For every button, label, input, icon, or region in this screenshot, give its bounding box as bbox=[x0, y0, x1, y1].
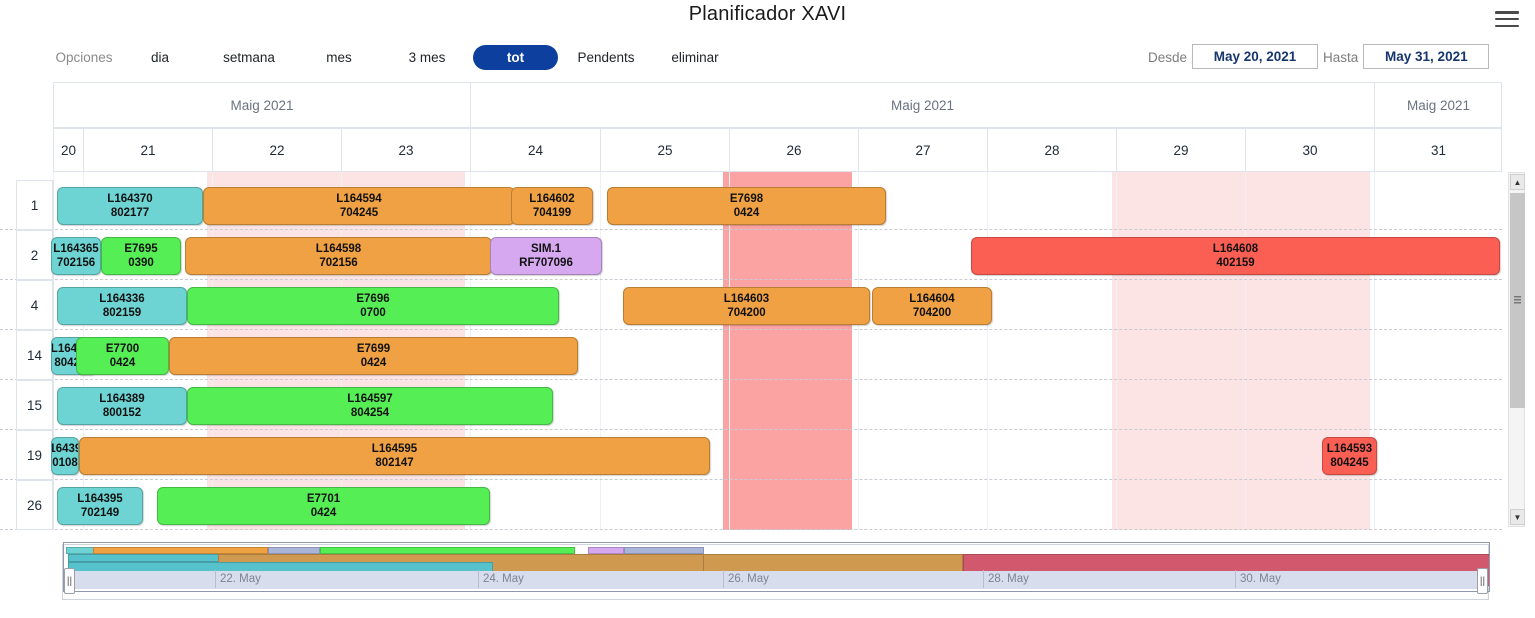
gantt-bar-id: L164603 bbox=[724, 292, 769, 306]
gantt-bar[interactable]: E77000424 bbox=[76, 337, 169, 375]
gantt-bar-id: L164370 bbox=[107, 192, 152, 206]
gantt-bar[interactable]: L164370802177 bbox=[57, 187, 203, 225]
month-header-cell: Maig 2021 bbox=[470, 82, 1374, 128]
gantt-row: 4L164336802159E76960700L164603704200L164… bbox=[0, 280, 1502, 330]
gantt-bar[interactable]: L164336802159 bbox=[57, 287, 187, 325]
row-label-separator bbox=[53, 280, 54, 330]
gantt-row: 19L164393801081L164595802147L16459380424… bbox=[0, 430, 1502, 480]
date-range-controls: DesdeMay 20, 2021HastaMay 31, 2021 bbox=[1148, 43, 1494, 72]
gantt-calendar: Maig 2021Maig 2021Maig 2021 202122232425… bbox=[0, 82, 1535, 530]
gantt-bar[interactable]: E77010424 bbox=[157, 487, 490, 525]
vertical-scrollbar[interactable]: ▲ ▼ bbox=[1508, 172, 1525, 527]
gantt-bar[interactable]: L164603704200 bbox=[623, 287, 870, 325]
gantt-bar[interactable]: E76950390 bbox=[101, 237, 181, 275]
header-right-border bbox=[1501, 82, 1502, 172]
gantt-bar-id: E7699 bbox=[357, 342, 390, 356]
hamburger-bar bbox=[1495, 25, 1519, 28]
gantt-bar-id: L164595 bbox=[372, 442, 417, 456]
gantt-row: 14L164381804217E77000424E76990424 bbox=[0, 330, 1502, 380]
scroll-down-button[interactable]: ▼ bbox=[1510, 509, 1525, 525]
date-to-label: Hasta bbox=[1323, 43, 1358, 72]
gantt-bar-id: E7698 bbox=[730, 192, 763, 206]
gantt-bar-id: L164336 bbox=[99, 292, 144, 306]
gantt-bar-id: E7695 bbox=[124, 242, 157, 256]
overview-handle-right[interactable]: || bbox=[1477, 568, 1488, 594]
day-header-cell[interactable]: 23 bbox=[341, 128, 470, 172]
row-label: 2 bbox=[16, 230, 53, 280]
day-header-cell[interactable]: 29 bbox=[1116, 128, 1245, 172]
gantt-bar[interactable]: SIM.1RF707096 bbox=[490, 237, 602, 275]
gantt-bar-id: L164594 bbox=[336, 192, 381, 206]
gantt-row: 2L164365702156E76950390L164598702156SIM.… bbox=[0, 230, 1502, 280]
page-title: Planificador XAVI bbox=[0, 3, 1535, 26]
gantt-bar-code: 0424 bbox=[361, 356, 387, 370]
gantt-bar-code: 402159 bbox=[1216, 256, 1254, 270]
gantt-bar-code: 804254 bbox=[351, 406, 389, 420]
row-label-separator bbox=[53, 180, 54, 230]
day-header-cell[interactable]: 30 bbox=[1245, 128, 1374, 172]
gantt-row: 1L164370802177L164594704245L164602704199… bbox=[0, 180, 1502, 230]
gantt-bar[interactable]: L164389800152 bbox=[57, 387, 187, 425]
gantt-bar-id: L164593 bbox=[1327, 442, 1372, 456]
gantt-bar[interactable]: L164395702149 bbox=[57, 487, 143, 525]
row-label: 1 bbox=[16, 180, 53, 230]
calendar-day-header: 202122232425262728293031 bbox=[0, 128, 1502, 172]
date-to-input[interactable]: May 31, 2021 bbox=[1363, 44, 1489, 69]
row-label: 19 bbox=[16, 430, 53, 480]
gantt-bar-code: 802177 bbox=[111, 206, 149, 220]
gantt-bar-id: E7696 bbox=[356, 292, 389, 306]
gantt-bar[interactable]: L164594704245 bbox=[203, 187, 515, 225]
gantt-bar[interactable]: L164608402159 bbox=[971, 237, 1500, 275]
gantt-bar-id: L164598 bbox=[316, 242, 361, 256]
gantt-bar-code: 0424 bbox=[734, 206, 760, 220]
row-label-separator bbox=[53, 380, 54, 430]
day-header-cell[interactable]: 27 bbox=[858, 128, 987, 172]
gantt-bar[interactable]: L164602704199 bbox=[511, 187, 593, 225]
overview-handle-left[interactable]: || bbox=[64, 568, 75, 594]
toolbar-item-dia[interactable]: dia bbox=[140, 43, 180, 72]
toolbar-item-3-mes[interactable]: 3 mes bbox=[398, 43, 456, 72]
gantt-bar-code: RF707096 bbox=[519, 256, 573, 270]
day-header-cell[interactable]: 31 bbox=[1374, 128, 1502, 172]
toolbar: Opcionesdiasetmanames3 mestotPendentseli… bbox=[0, 43, 1535, 73]
gantt-bar-code: 800152 bbox=[103, 406, 141, 420]
gantt-bar-code: 702156 bbox=[57, 256, 95, 270]
gantt-bar-code: 802147 bbox=[375, 456, 413, 470]
gantt-body: 1L164370802177L164594704245L164602704199… bbox=[0, 172, 1502, 530]
gantt-bar[interactable]: E76980424 bbox=[607, 187, 886, 225]
gantt-bar-code: 704245 bbox=[340, 206, 378, 220]
toolbar-item-tot[interactable]: tot bbox=[473, 45, 558, 70]
gantt-bar[interactable]: L164597804254 bbox=[187, 387, 553, 425]
row-label: 26 bbox=[16, 480, 53, 530]
day-header-cell[interactable]: 21 bbox=[83, 128, 212, 172]
gantt-bar-id: L164602 bbox=[529, 192, 574, 206]
scroll-up-button[interactable]: ▲ bbox=[1510, 174, 1525, 190]
hamburger-icon[interactable] bbox=[1495, 11, 1519, 29]
gantt-bar-id: SIM.1 bbox=[531, 242, 561, 256]
day-header-cell[interactable]: 20 bbox=[53, 128, 83, 172]
hamburger-bar bbox=[1495, 11, 1519, 14]
month-header-cell: Maig 2021 bbox=[1374, 82, 1502, 128]
gantt-bar[interactable]: L164593804245 bbox=[1322, 437, 1377, 475]
date-from-input[interactable]: May 20, 2021 bbox=[1192, 44, 1318, 69]
day-header-cell[interactable]: 24 bbox=[470, 128, 600, 172]
gantt-bar-id: L164597 bbox=[347, 392, 392, 406]
gantt-bar-code: 704199 bbox=[533, 206, 571, 220]
gantt-bar[interactable]: L164604704200 bbox=[872, 287, 992, 325]
row-label: 15 bbox=[16, 380, 53, 430]
toolbar-item-opciones[interactable]: Opciones bbox=[53, 43, 115, 72]
gantt-row: 15L164389800152L164597804254 bbox=[0, 380, 1502, 430]
gantt-bar-code: 704200 bbox=[913, 306, 951, 320]
gantt-bar[interactable]: L164598702156 bbox=[185, 237, 492, 275]
gantt-bar[interactable]: L164365702156 bbox=[51, 237, 101, 275]
gantt-bar-code: 704200 bbox=[727, 306, 765, 320]
gantt-bar[interactable]: L164393801081 bbox=[51, 437, 79, 475]
gantt-bar[interactable]: L164595802147 bbox=[79, 437, 710, 475]
day-header-cell[interactable]: 28 bbox=[987, 128, 1116, 172]
calendar-month-header: Maig 2021Maig 2021Maig 2021 bbox=[0, 82, 1502, 128]
toolbar-item-eliminar[interactable]: eliminar bbox=[660, 43, 730, 72]
gantt-bar-id: L164395 bbox=[77, 492, 122, 506]
row-label: 14 bbox=[16, 330, 53, 380]
gantt-bar[interactable]: E76990424 bbox=[169, 337, 578, 375]
day-header-cell[interactable]: 22 bbox=[212, 128, 341, 172]
gantt-bar-code: 0424 bbox=[311, 506, 337, 520]
scrollbar-thumb[interactable] bbox=[1510, 193, 1525, 408]
date-from-label: Desde bbox=[1148, 43, 1187, 72]
gantt-bar-code: 801081 bbox=[51, 456, 79, 470]
timeline-overview[interactable]: 22. May24. May26. May28. May30. May || |… bbox=[62, 544, 1489, 600]
gantt-bar-id: L164608 bbox=[1213, 242, 1258, 256]
gantt-bar-code: 702156 bbox=[319, 256, 357, 270]
gantt-bar-id: E7701 bbox=[307, 492, 340, 506]
gantt-bar-id: L164604 bbox=[909, 292, 954, 306]
row-label-separator bbox=[53, 480, 54, 530]
toolbar-item-pendents[interactable]: Pendents bbox=[568, 43, 644, 72]
gantt-bar-code: 0424 bbox=[110, 356, 136, 370]
month-header-cell: Maig 2021 bbox=[53, 82, 470, 128]
row-label: 4 bbox=[16, 280, 53, 330]
gantt-bar-id: L164389 bbox=[99, 392, 144, 406]
overview-window[interactable] bbox=[63, 542, 1490, 592]
gantt-bar-code: 802159 bbox=[103, 306, 141, 320]
gantt-bar-code: 702149 bbox=[81, 506, 119, 520]
toolbar-item-setmana[interactable]: setmana bbox=[212, 43, 286, 72]
gantt-bar-id: L164365 bbox=[53, 242, 98, 256]
day-header-cell[interactable]: 25 bbox=[600, 128, 729, 172]
hamburger-bar bbox=[1495, 18, 1519, 21]
gantt-bar-code: 0390 bbox=[128, 256, 154, 270]
gantt-bar[interactable]: E76960700 bbox=[187, 287, 559, 325]
gantt-bar-id: E7700 bbox=[106, 342, 139, 356]
gantt-bar-id: L164393 bbox=[51, 442, 79, 456]
gantt-row: 26L164395702149E77010424 bbox=[0, 480, 1502, 530]
toolbar-item-mes[interactable]: mes bbox=[317, 43, 361, 72]
gantt-bar-code: 0700 bbox=[360, 306, 386, 320]
day-header-cell[interactable]: 26 bbox=[729, 128, 858, 172]
gantt-bar-code: 804245 bbox=[1330, 456, 1368, 470]
